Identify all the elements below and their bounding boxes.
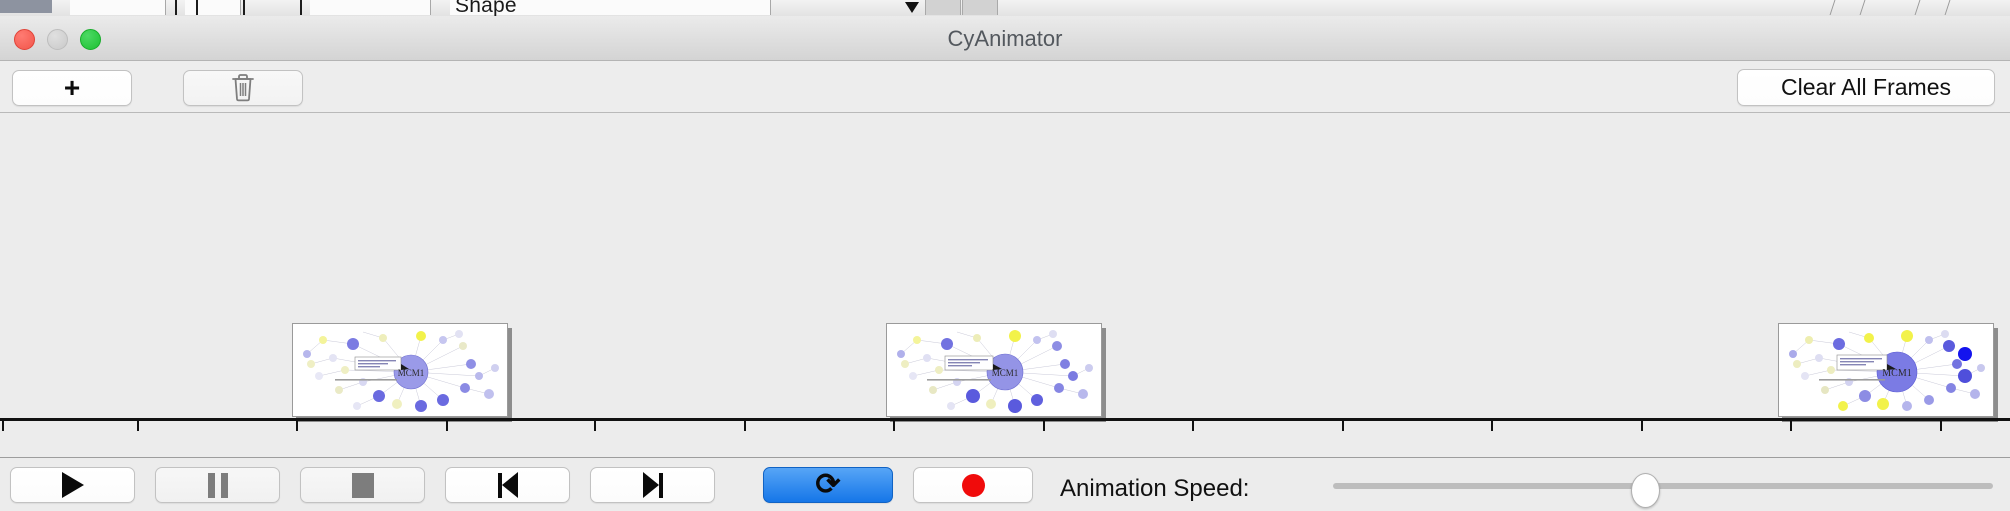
axis-minor-tick [744,421,746,431]
axis-major-tick [1491,421,1493,431]
record-button[interactable] [913,467,1033,503]
plus-icon: + [64,74,80,102]
axis-major-tick [2,421,4,431]
network-thumbnail: MCM1 [886,323,1102,417]
background-window-divider [175,0,177,15]
delete-frame-button[interactable] [183,70,303,106]
axis-major-tick [594,421,596,431]
frames-toolbar: + Clear All Frames [0,61,2010,113]
timeline-frame-thumbnail[interactable]: MCM1 [1778,323,1998,421]
trash-icon [230,73,256,103]
animation-speed-slider[interactable] [1333,467,1993,503]
background-window-caret-icon [905,2,919,13]
svg-text:MCM1: MCM1 [398,368,425,378]
axis-minor-tick [1342,421,1344,431]
axis-major-tick [296,421,298,431]
skip-start-icon [498,472,518,498]
play-icon [62,472,84,498]
clear-all-frames-button[interactable]: Clear All Frames [1737,69,1995,106]
axis-minor-tick [1043,421,1045,431]
pause-button[interactable] [155,467,280,503]
skip-end-icon [643,472,663,498]
svg-text:MCM1: MCM1 [1882,368,1911,379]
axis-minor-tick [446,421,448,431]
timeline-frame-thumbnail[interactable]: MCM1 [886,323,1106,421]
slider-track[interactable] [1333,483,1993,489]
timeline-axis [0,418,2010,421]
skip-start-button[interactable] [445,467,570,503]
add-frame-button[interactable]: + [12,70,132,106]
timeline-panel[interactable]: MCM1 [0,113,2010,431]
loop-button[interactable]: ⟳ [763,467,893,503]
background-window-button [925,0,961,15]
play-button[interactable] [10,467,135,503]
network-thumbnail: MCM1 [292,323,508,417]
svg-text:MCM1: MCM1 [992,368,1019,378]
background-window-segment [185,0,241,15]
background-window-divider [243,0,245,15]
slider-thumb[interactable] [1631,473,1660,508]
axis-major-tick [1192,421,1194,431]
pause-icon [208,473,228,498]
axis-major-tick [1790,421,1792,431]
stop-icon [352,473,374,498]
background-window-divider [196,0,198,15]
network-thumbnail: MCM1 [1778,323,1994,417]
background-window-segment [70,0,166,15]
animation-speed-label: Animation Speed: [1060,475,1249,503]
axis-minor-tick [137,421,139,431]
titlebar: CyAnimator [0,16,2010,61]
cyanimator-window: CyAnimator + Clear All Frames [0,16,2010,510]
background-window-segment [310,0,431,15]
background-window: Shape [0,0,2010,16]
window-title: CyAnimator [0,26,2010,52]
axis-major-tick [893,421,895,431]
stop-button[interactable] [300,467,425,503]
timeline-frame-thumbnail[interactable]: MCM1 [292,323,512,421]
background-window-selected-cell [0,0,52,13]
loop-icon: ⟳ [815,470,840,500]
background-window-shape-label: Shape [455,0,517,16]
playback-bar: ⟳ Animation Speed: [0,457,2010,511]
axis-minor-tick [1940,421,1942,431]
background-window-button [962,0,998,15]
axis-minor-tick [1641,421,1643,431]
record-icon [962,474,985,497]
background-window-divider [300,0,302,15]
skip-end-button[interactable] [590,467,715,503]
